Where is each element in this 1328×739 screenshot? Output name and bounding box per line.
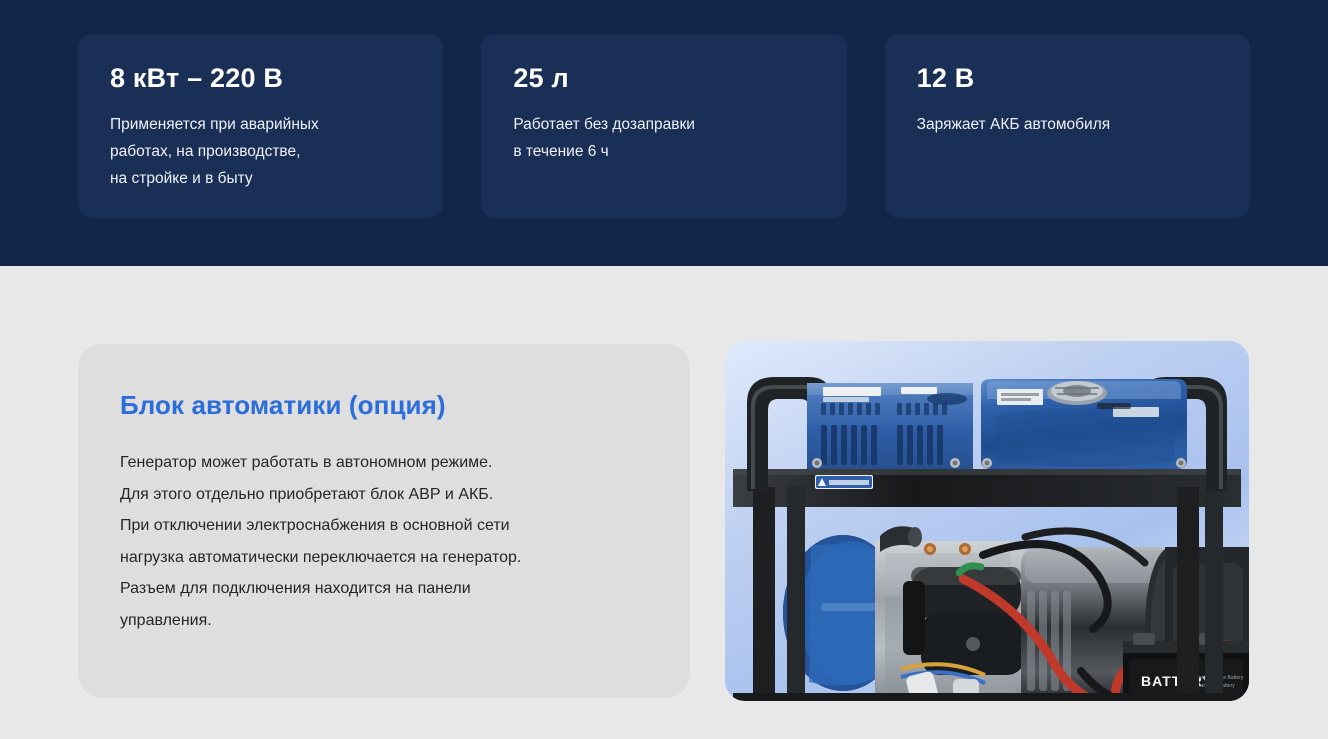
spec-value: 25 л [513, 64, 814, 94]
fuel-tank [981, 379, 1187, 469]
spec-description: Заряжает АКБ автомобиля [917, 111, 1218, 138]
spec-card-row: 8 кВт – 220 В Применяется при аварийных … [78, 34, 1250, 218]
automation-title: Блок автоматики (опция) [120, 390, 638, 421]
automation-section: Блок автоматики (опция) Генератор может … [0, 266, 1328, 739]
control-box [807, 383, 973, 469]
spec-description: Работает без дозаправки в течение 6 ч [513, 111, 814, 165]
spec-value: 8 кВт – 220 В [110, 64, 411, 94]
automation-panel: Блок автоматики (опция) Генератор может … [78, 344, 690, 698]
spec-card-fuel-tank: 25 л Работает без дозаправки в течение 6… [481, 34, 846, 218]
specs-section: 8 кВт – 220 В Применяется при аварийных … [0, 0, 1328, 266]
generator-illustration: BATTERY 6-FEG-26AH(12V26Ah) Rechargeable… [725, 341, 1249, 701]
spec-card-power: 8 кВт – 220 В Применяется при аварийных … [78, 34, 443, 218]
automation-body-text: Генератор может работать в автономном ре… [120, 447, 638, 636]
spec-value: 12 В [917, 64, 1218, 94]
spec-description: Применяется при аварийных работах, на пр… [110, 111, 411, 192]
warning-sticker [815, 475, 873, 489]
generator-photo: BATTERY 6-FEG-26AH(12V26Ah) Rechargeable… [725, 341, 1249, 701]
spec-card-voltage: 12 В Заряжает АКБ автомобиля [885, 34, 1250, 218]
